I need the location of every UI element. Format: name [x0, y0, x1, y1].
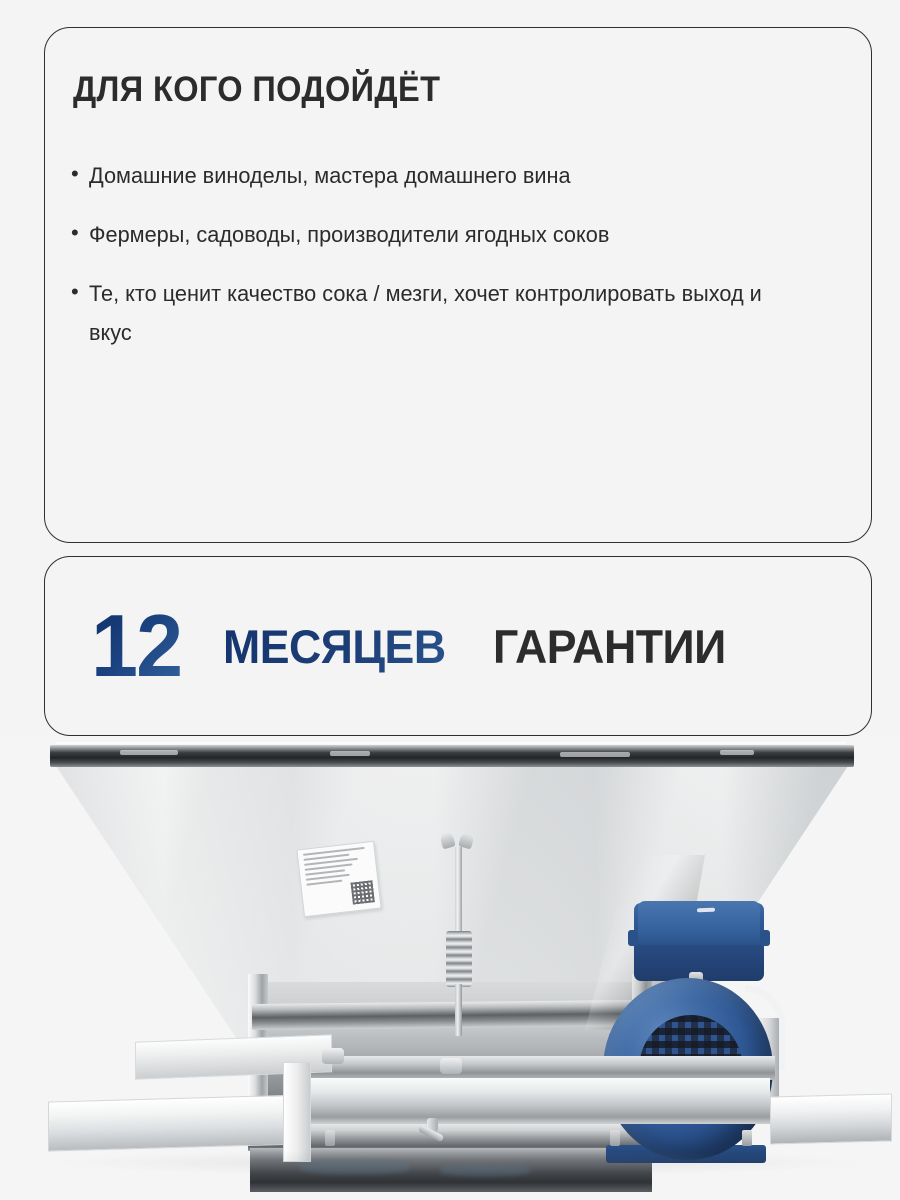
wing-nut-icon [441, 833, 473, 848]
threaded-rod [455, 847, 462, 942]
crusher-crossbar [252, 1000, 642, 1030]
list-item: • Домашние виноделы, мастера домашнего в… [71, 156, 831, 195]
rim-speck [120, 750, 178, 755]
warranty-guarantee-label: ГАРАНТИИ [493, 619, 726, 674]
product-info-page: ДЛЯ КОГО ПОДОЙДЁТ • Домашние виноделы, м… [0, 0, 900, 1200]
drain-tap-handle-icon [418, 1118, 446, 1148]
frame-bolt [742, 1130, 752, 1146]
frame-nut [322, 1048, 344, 1064]
bullet-dot-icon: • [71, 156, 89, 191]
list-item: • Те, кто ценит качество сока / мезги, х… [71, 274, 831, 352]
frame-rail-lower [300, 1078, 770, 1124]
qr-code-icon [350, 880, 374, 904]
audience-bullet-list: • Домашние виноделы, мастера домашнего в… [71, 156, 831, 372]
frame-bolt [325, 1130, 335, 1146]
bullet-dot-icon: • [71, 215, 89, 250]
threaded-rod-lower [455, 984, 462, 1036]
frame-support-bar-lower [48, 1094, 305, 1151]
frame-nut [440, 1058, 462, 1074]
rim-speck [720, 750, 754, 755]
warranty-row: 12 МЕСЯЦЕВ ГАРАНТИИ [45, 557, 871, 735]
frame-vertical-leg [283, 1062, 311, 1162]
bullet-dot-icon: • [71, 274, 89, 309]
hopper-rim [50, 745, 854, 767]
frame-support-bar-right [770, 1094, 892, 1145]
rim-speck [560, 752, 630, 757]
page-title: ДЛЯ КОГО ПОДОЙДЁТ [73, 70, 440, 110]
warranty-months-label: МЕСЯЦЕВ [223, 619, 446, 674]
ground-shadow [60, 1150, 860, 1176]
warranty-number: 12 [91, 602, 187, 690]
list-item-label: Те, кто ценит качество сока / мезги, хоч… [89, 274, 765, 352]
list-item-label: Домашние виноделы, мастера домашнего вин… [89, 156, 765, 195]
frame-bolt [610, 1130, 620, 1146]
terminal-box-ear [760, 930, 770, 946]
terminal-lid-slot [697, 908, 715, 913]
rim-speck [330, 751, 370, 756]
frame-rail-upper [300, 1056, 775, 1080]
list-item-label: Фермеры, садоводы, производители ягодных… [89, 215, 765, 254]
warranty-card: 12 МЕСЯЦЕВ ГАРАНТИИ [44, 556, 872, 736]
audience-card: ДЛЯ КОГО ПОДОЙДЁТ • Домашние виноделы, м… [44, 27, 872, 543]
terminal-box-ear [628, 930, 638, 946]
label-text-line [306, 880, 342, 886]
compression-spring [446, 931, 472, 987]
list-item: • Фермеры, садоводы, производители ягодн… [71, 215, 831, 254]
product-info-sticker [296, 841, 381, 917]
wing-nut-left-wing [439, 831, 456, 849]
